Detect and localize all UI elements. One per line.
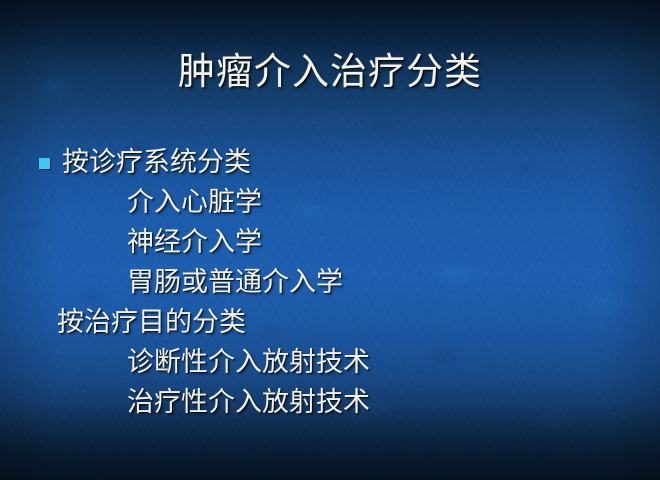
- bullet-line: 介入心脏学: [0, 183, 660, 223]
- bullet-line-text: 胃肠或普通介入学: [127, 267, 343, 298]
- bullet-line-text: 介入心脏学: [127, 187, 262, 218]
- bullet-line-text: 治疗性介入放射技术: [127, 387, 370, 418]
- bullet-line: 神经介入学: [0, 223, 660, 263]
- bullet-line: 按诊疗系统分类: [0, 143, 660, 183]
- bullet-line-text: 神经介入学: [127, 227, 262, 258]
- bullet-line: 诊断性介入放射技术: [0, 343, 660, 383]
- bullet-line-text: 诊断性介入放射技术: [127, 347, 370, 378]
- slide-body: 按诊疗系统分类 介入心脏学 神经介入学 胃肠或普通介入学 按治疗目的分类 诊断性…: [0, 143, 660, 423]
- slide-content: 肿瘤介入治疗分类 按诊疗系统分类 介入心脏学 神经介入学 胃肠或普通介入学 按治…: [0, 0, 660, 480]
- bullet-line: 治疗性介入放射技术: [0, 383, 660, 423]
- bullet-line-text: 按诊疗系统分类: [62, 147, 251, 178]
- presentation-slide: 肿瘤介入治疗分类 按诊疗系统分类 介入心脏学 神经介入学 胃肠或普通介入学 按治…: [0, 0, 660, 480]
- bullet-line: 按治疗目的分类: [0, 303, 660, 343]
- slide-title: 肿瘤介入治疗分类: [0, 50, 660, 94]
- bullet-line-text: 按治疗目的分类: [57, 307, 246, 338]
- square-bullet-icon: [39, 158, 50, 169]
- bullet-line: 胃肠或普通介入学: [0, 263, 660, 303]
